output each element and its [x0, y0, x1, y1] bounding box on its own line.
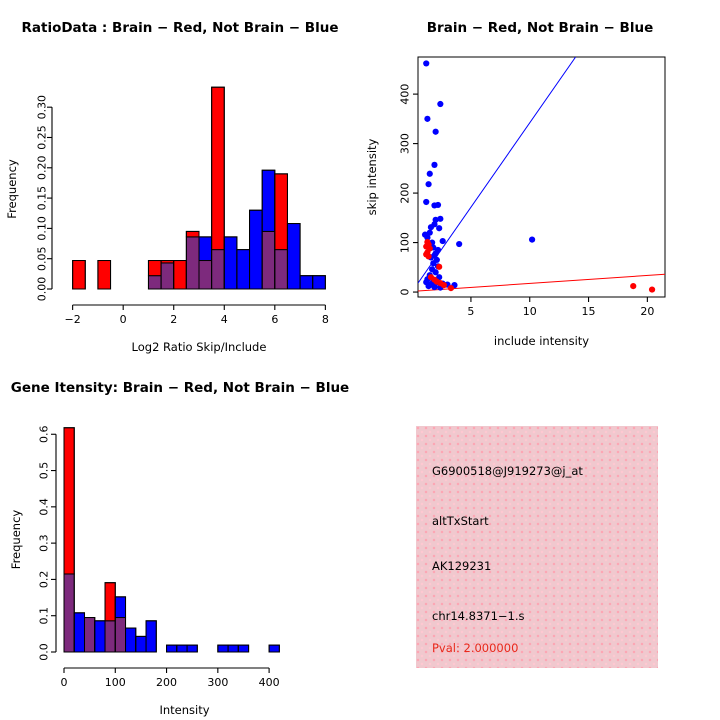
hist-bar-blue [218, 645, 228, 652]
locus-text: chr14.8371−1.s [432, 609, 525, 623]
hist-bar-blue [199, 237, 212, 261]
y-tick-label: 0.00 [36, 277, 49, 302]
gene-histogram-svg: 0.00.10.20.30.40.50.60100200300400Intens… [0, 360, 360, 720]
panel-gene-histogram: Gene Itensity: Brain − Red, Not Brain − … [0, 360, 360, 720]
scatter-point [529, 236, 535, 242]
x-tick-label: 200 [156, 676, 177, 689]
hist-bar-overlap [161, 263, 174, 289]
hist-bar-overlap [262, 231, 275, 289]
y-tick-label: 0.15 [36, 186, 49, 211]
scatter-point [448, 285, 454, 291]
y-tick-label: 0.3 [38, 534, 51, 552]
y-tick-label: 400 [399, 84, 412, 105]
x-tick-label: 100 [105, 676, 126, 689]
scatter-point [423, 60, 429, 66]
y-tick-label: 0.2 [38, 571, 51, 589]
hist-bar-blue [238, 645, 248, 652]
x-tick-label: 300 [207, 676, 228, 689]
gene-histogram-title: Gene Itensity: Brain − Red, Not Brain − … [0, 380, 360, 396]
hist-bar-blue [313, 276, 326, 289]
hist-bar-blue [237, 250, 250, 289]
scatter-point [425, 241, 431, 247]
hist-bar-red [105, 583, 115, 621]
scatter-point [630, 283, 636, 289]
hist-bar-blue [287, 224, 300, 289]
x-tick-label: 4 [221, 313, 228, 326]
y-tick-label: 0.6 [38, 426, 51, 444]
hist-bar-blue [187, 645, 197, 652]
y-tick-label: 0.05 [36, 246, 49, 271]
hist-bar-overlap [212, 250, 225, 289]
ratio-histogram-svg: 0.000.050.100.150.200.250.30−202468Log2 … [0, 0, 360, 360]
x-tick-label: 5 [467, 305, 474, 318]
scatter-point [436, 225, 442, 231]
y-tick-label: 200 [399, 183, 412, 204]
x-tick-label: 2 [170, 313, 177, 326]
hist-bar-overlap [85, 618, 95, 652]
scatter-point [436, 264, 442, 270]
x-axis-title: include intensity [494, 334, 589, 348]
event-type-text: altTxStart [432, 514, 489, 528]
x-tick-label: 0 [120, 313, 127, 326]
x-axis-title: Log2 Ratio Skip/Include [132, 340, 267, 354]
hist-bar-blue [74, 613, 84, 652]
ratio-histogram-title: RatioData : Brain − Red, Not Brain − Blu… [0, 20, 360, 36]
panel-scatter: Brain − Red, Not Brain − Blue 5101520010… [360, 0, 720, 360]
panel-info: G6900518@J919273@j_at altTxStart AK12923… [360, 360, 720, 720]
hist-bar-blue [146, 621, 156, 652]
y-tick-label: 0 [399, 289, 412, 296]
scatter-point [437, 101, 443, 107]
hist-bar-overlap [275, 250, 288, 289]
hist-bar-red [275, 174, 288, 250]
scatter-point [433, 129, 439, 135]
x-tick-label: 8 [322, 313, 329, 326]
hist-bar-blue [115, 597, 125, 618]
hist-bar-red [148, 261, 161, 276]
hist-bar-blue [224, 237, 237, 289]
x-tick-label: 10 [523, 305, 537, 318]
x-tick-label: 400 [259, 676, 280, 689]
hist-bar-red [73, 261, 86, 289]
hist-bar-overlap [64, 574, 74, 652]
annotation-box: G6900518@J919273@j_at altTxStart AK12923… [416, 426, 658, 668]
hist-bar-red [174, 261, 187, 289]
x-tick-label: 20 [640, 305, 654, 318]
hist-bar-blue [269, 645, 279, 652]
y-tick-label: 0.30 [36, 95, 49, 120]
scatter-point [424, 116, 430, 122]
scatter-point [428, 224, 434, 230]
scatter-point [649, 286, 655, 292]
scatter-point [431, 162, 437, 168]
probe-id-text: G6900518@J919273@j_at [432, 464, 583, 478]
y-tick-label: 300 [399, 133, 412, 154]
x-axis-title: Intensity [159, 703, 209, 717]
hist-bar-blue [250, 210, 263, 289]
hist-bar-red [98, 261, 111, 289]
hist-bar-blue [95, 621, 105, 652]
scatter-svg: 51015200100200300400include intensityski… [360, 0, 720, 360]
hist-bar-blue [126, 628, 136, 652]
scatter-point [440, 238, 446, 244]
hist-bar-overlap [186, 237, 199, 289]
y-tick-label: 0.0 [38, 643, 51, 661]
hist-bar-blue [300, 276, 313, 289]
y-tick-label: 0.4 [38, 498, 51, 516]
scatter-point [425, 181, 431, 187]
x-tick-label: 6 [271, 313, 278, 326]
hist-bar-overlap [199, 261, 212, 289]
hist-bar-blue [167, 645, 177, 652]
y-axis-title: Frequency [5, 159, 19, 219]
y-tick-label: 0.20 [36, 156, 49, 181]
y-tick-label: 100 [399, 232, 412, 253]
hist-bar-red [186, 231, 199, 236]
panel-ratio-histogram: RatioData : Brain − Red, Not Brain − Blu… [0, 0, 360, 360]
hist-bar-blue [262, 170, 275, 231]
hist-bar-overlap [148, 276, 161, 289]
hist-bar-red [64, 428, 74, 574]
x-tick-label: −2 [65, 313, 81, 326]
pval-text: Pval: 2.000000 [432, 641, 518, 655]
y-tick-label: 0.10 [36, 216, 49, 241]
y-axis-title: Frequency [9, 510, 23, 570]
hist-bar-blue [136, 636, 146, 652]
y-axis-title: skip intensity [365, 138, 379, 215]
hist-bar-overlap [105, 621, 115, 652]
scatter-point [456, 241, 462, 247]
x-tick-label: 15 [582, 305, 596, 318]
hist-bar-blue [228, 645, 238, 652]
fit-line-blue-fit [418, 57, 576, 283]
y-tick-label: 0.5 [38, 462, 51, 480]
scatter-title: Brain − Red, Not Brain − Blue [360, 20, 720, 36]
hist-bar-red [212, 87, 225, 249]
hist-bar-blue [177, 645, 187, 652]
scatter-point [423, 199, 429, 205]
scatter-point [425, 253, 431, 259]
y-tick-label: 0.25 [36, 125, 49, 150]
plot-frame [418, 57, 665, 297]
x-tick-label: 0 [61, 676, 68, 689]
scatter-point [441, 282, 447, 288]
hist-bar-overlap [115, 618, 125, 652]
scatter-point [427, 171, 433, 177]
y-tick-label: 0.1 [38, 607, 51, 625]
accession-text: AK129231 [432, 559, 491, 573]
scatter-point [435, 202, 441, 208]
